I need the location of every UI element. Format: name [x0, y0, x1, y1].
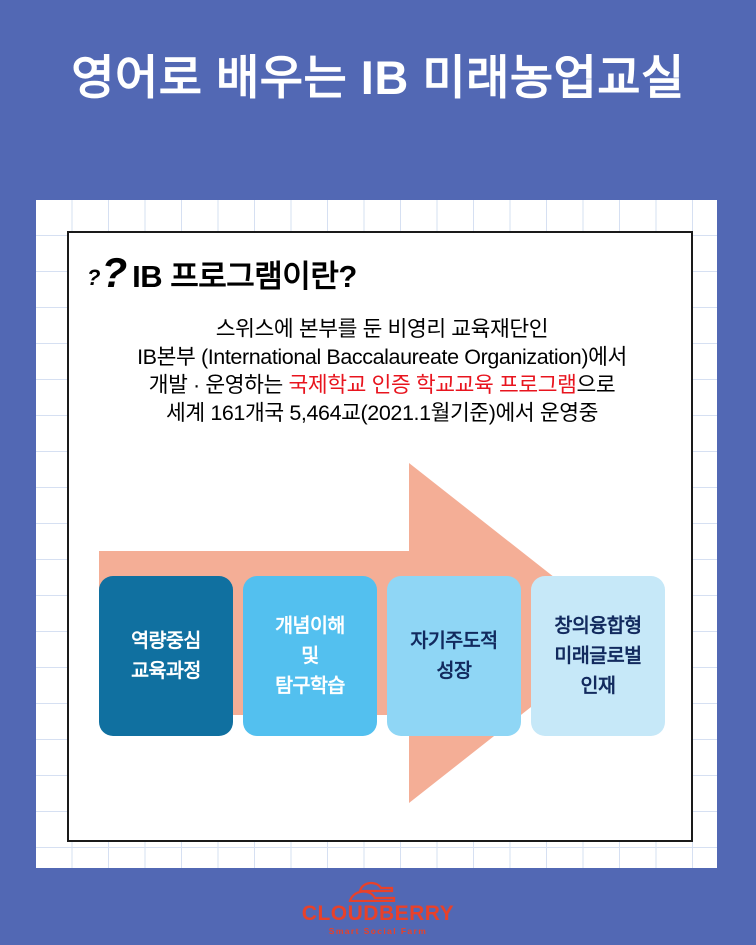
- card-heading-text: IB 프로그램이란?: [132, 251, 357, 296]
- stage-1-line-2: 교육과정: [131, 656, 201, 686]
- body-line-3: 개발 · 운영하는 국제학교 인증 학교교육 프로그램으로: [69, 371, 693, 399]
- footer-logo: CLOUDBERRY Smart Social Farm: [0, 878, 756, 936]
- page-title: 영어로 배우는 IB 미래농업교실: [0, 52, 756, 104]
- cloud-icon: [340, 878, 416, 902]
- stage-box-3[interactable]: 자기주도적 성장: [387, 576, 521, 736]
- question-mark-large-icon: ?: [101, 252, 127, 294]
- content-card: ? ? IB 프로그램이란? 스위스에 본부를 둔 비영리 교육재단인 IB본부…: [67, 231, 693, 842]
- stage-4-line-1: 창의융합형: [554, 611, 641, 641]
- stage-3-line-2: 성장: [437, 656, 472, 686]
- body-line-3-prefix: 개발 · 운영하는: [149, 373, 289, 397]
- stage-2-line-2: 및: [301, 641, 318, 671]
- footer-logo-name: CLOUDBERRY: [0, 903, 756, 924]
- question-mark-small-icon: ?: [87, 265, 100, 291]
- stage-2-line-1: 개념이해: [275, 611, 345, 641]
- body-line-2: IB본부 (International Baccalaureate Organi…: [69, 343, 693, 371]
- body-line-3-suffix: 으로: [577, 373, 616, 397]
- stage-1-line-1: 역량중심: [131, 626, 201, 656]
- stage-box-row: 역량중심 교육과정 개념이해 및 탐구학습 자기주도적 성장 창의융합형 미래글…: [99, 576, 665, 736]
- stage-box-4[interactable]: 창의융합형 미래글로벌 인재: [531, 576, 665, 736]
- card-heading: ? ? IB 프로그램이란?: [87, 251, 357, 296]
- card-body: 스위스에 본부를 둔 비영리 교육재단인 IB본부 (International…: [69, 315, 693, 427]
- stage-box-1[interactable]: 역량중심 교육과정: [99, 576, 233, 736]
- body-line-1: 스위스에 본부를 둔 비영리 교육재단인: [69, 315, 693, 343]
- stage-4-line-3: 인재: [581, 671, 616, 701]
- stage-4-line-2: 미래글로벌: [554, 641, 641, 671]
- stage-3-line-1: 자기주도적: [410, 626, 497, 656]
- footer-logo-tagline: Smart Social Farm: [0, 927, 756, 936]
- body-line-3-highlight: 국제학교 인증 학교교육 프로그램: [288, 373, 576, 397]
- stage-box-2[interactable]: 개념이해 및 탐구학습: [243, 576, 377, 736]
- body-line-4: 세계 161개국 5,464교(2021.1월기준)에서 운영중: [69, 399, 693, 427]
- stage-2-line-3: 탐구학습: [275, 671, 345, 701]
